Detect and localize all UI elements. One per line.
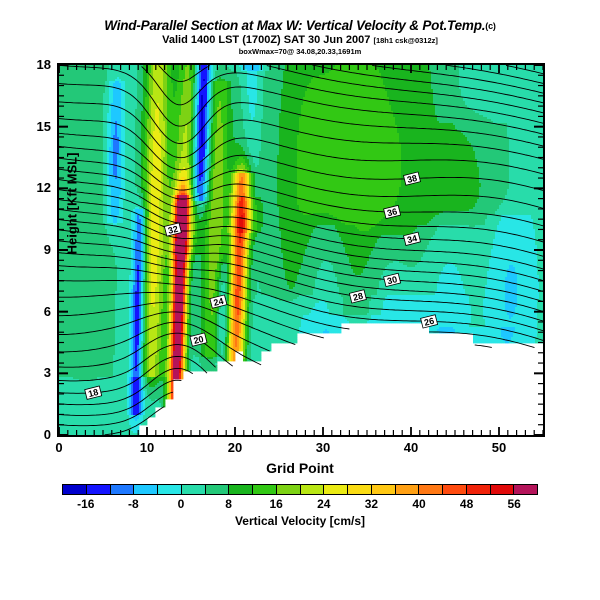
colorbar-swatch	[396, 485, 420, 494]
y-tick-label: 15	[17, 119, 51, 134]
x-tick-label: 30	[303, 440, 343, 455]
plot-area: 18202426283032343638	[57, 63, 545, 437]
y-axis-title: Height [Kft MSL]	[65, 124, 80, 284]
x-tick-label: 40	[391, 440, 431, 455]
colorbar-tick-label: -8	[113, 497, 153, 511]
colorbar-swatch	[158, 485, 182, 494]
colorbar-swatch	[514, 485, 537, 494]
colorbar-swatch	[301, 485, 325, 494]
colorbar-swatch	[372, 485, 396, 494]
colorbar-tick-label: 0	[161, 497, 201, 511]
y-tick-label: 6	[17, 304, 51, 319]
x-axis-title: Grid Point	[0, 460, 600, 476]
colorbar-swatch	[206, 485, 230, 494]
colorbar	[62, 484, 538, 495]
colorbar-swatch	[229, 485, 253, 494]
y-tick-label: 18	[17, 57, 51, 72]
colorbar-swatch	[134, 485, 158, 494]
title-block: Wind-Parallel Section at Max W: Vertical…	[0, 18, 600, 56]
figure-root: Wind-Parallel Section at Max W: Vertical…	[0, 0, 600, 600]
colorbar-swatch	[277, 485, 301, 494]
colorbar-tick-label: 40	[399, 497, 439, 511]
y-tick-label: 9	[17, 242, 51, 257]
colorbar-swatch	[443, 485, 467, 494]
colorbar-swatch	[87, 485, 111, 494]
y-tick-label: 3	[17, 365, 51, 380]
subtitle-valid-time: Valid 1400 LST (1700Z) SAT 30 Jun 2007 […	[0, 34, 600, 47]
x-tick-label: 10	[127, 440, 167, 455]
subtitle-text: Valid 1400 LST (1700Z) SAT 30 Jun 2007	[162, 34, 370, 46]
y-tick-label: 12	[17, 180, 51, 195]
colorbar-tick-label: 56	[494, 497, 534, 511]
colorbar-title: Vertical Velocity [cm/s]	[0, 514, 600, 528]
colorbar-tick-label: 48	[447, 497, 487, 511]
colorbar-swatch	[491, 485, 515, 494]
page-title: Wind-Parallel Section at Max W: Vertical…	[0, 18, 600, 34]
colorbar-swatch	[111, 485, 135, 494]
colorbar-tick-label: 16	[256, 497, 296, 511]
cross-section-render: 18202426283032343638	[59, 65, 543, 435]
subtitle-bracket: [18h1 csk@0312z]	[373, 36, 437, 45]
title-main-text: Wind-Parallel Section at Max W: Vertical…	[104, 18, 485, 33]
vertical-velocity-field	[59, 65, 543, 435]
x-tick-label: 20	[215, 440, 255, 455]
colorbar-swatch	[63, 485, 87, 494]
colorbar-swatch	[467, 485, 491, 494]
colorbar-tick-label: -16	[66, 497, 106, 511]
colorbar-swatch	[348, 485, 372, 494]
plot-clip: 18202426283032343638	[59, 65, 543, 435]
colorbar-swatch	[253, 485, 277, 494]
subtitle-max-annotation: boxWmax=70@ 34.08,20.33,1691m	[0, 47, 600, 56]
colorbar-tick-label: 24	[304, 497, 344, 511]
colorbar-swatch	[419, 485, 443, 494]
colorbar-swatch	[182, 485, 206, 494]
x-tick-label: 0	[39, 440, 79, 455]
title-units-superscript: (c)	[485, 21, 495, 31]
colorbar-tick-label: 8	[209, 497, 249, 511]
x-tick-label: 50	[479, 440, 519, 455]
colorbar-swatch	[324, 485, 348, 494]
colorbar-tick-label: 32	[351, 497, 391, 511]
